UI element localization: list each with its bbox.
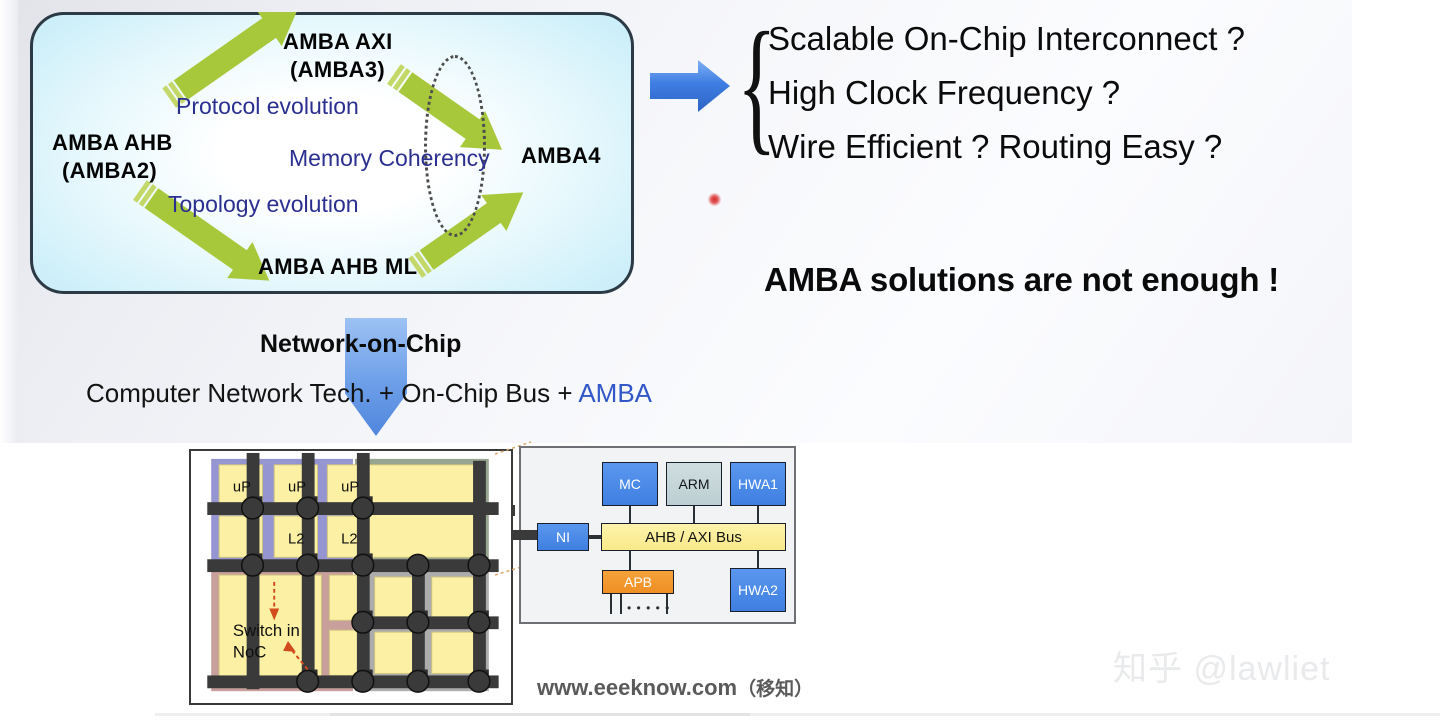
noc-formula-amba: AMBA — [578, 378, 652, 408]
block-ahb-axi-bus: AHB / AXI Bus — [601, 523, 786, 551]
watermark: 知乎 @lawliet — [1113, 641, 1330, 690]
mesh-callout-line2: NoC — [233, 643, 266, 662]
noc-title: Network-on-Chip — [260, 330, 461, 359]
apb-stub-1 — [610, 594, 612, 614]
mesh-callout-line1: Switch in — [233, 621, 300, 640]
wire-bus-hwa2 — [757, 551, 759, 569]
slide-left-gradient — [0, 0, 20, 443]
right-arrow-icon — [650, 57, 732, 115]
noc-mesh-diagram: uP uP uP L2 L2 Switch in NoC — [189, 449, 513, 705]
block-ni: NI — [537, 523, 589, 551]
conclusion-text: AMBA solutions are not enough ! — [764, 261, 1279, 299]
block-apb: APB — [602, 570, 674, 594]
footer-url-text: www.eeeknow.com — [537, 675, 737, 700]
block-hwa2: HWA2 — [730, 568, 786, 612]
laser-pointer-dot — [708, 193, 721, 206]
noc-formula-part1: Computer Network Tech. + On-Chip Bus + — [86, 378, 578, 408]
node-amba4: AMBA4 — [521, 143, 601, 169]
ahb-axi-block-diagram: MC ARM HWA1 NI AHB / AXI Bus APB HWA2 • … — [519, 446, 796, 624]
noc-formula: Computer Network Tech. + On-Chip Bus + A… — [86, 378, 652, 409]
node-amba-axi: AMBA AXI — [283, 29, 393, 55]
block-hwa1: HWA1 — [730, 462, 786, 506]
wire-external-ni — [511, 530, 537, 540]
mesh-tile-label-l2-1: L2 — [288, 532, 304, 548]
apb-ellipsis: • • • • • — [627, 601, 670, 615]
mesh-tile-label-up-1: uP — [233, 479, 251, 495]
annotation-topology-evolution: Topology evolution — [168, 191, 359, 218]
node-amba-ahb-ml: AMBA AHB ML — [258, 254, 417, 280]
node-amba-axi-version: (AMBA3) — [290, 57, 385, 83]
node-amba-ahb-version: (AMBA2) — [62, 158, 157, 184]
question-item-2: Wire Efficient ? Routing Easy ? — [768, 120, 1245, 174]
apb-stub-2 — [620, 594, 622, 614]
connector-tick — [511, 505, 515, 516]
noc-mesh-svg: uP uP uP L2 L2 Switch in NoC — [191, 451, 511, 703]
annotation-memory-coherency: Memory Coherency — [289, 145, 490, 172]
questions-list: Scalable On-Chip Interconnect ? High Clo… — [768, 12, 1245, 174]
question-item-0: Scalable On-Chip Interconnect ? — [768, 12, 1245, 66]
wire-bus-apb — [629, 551, 631, 571]
annotation-protocol-evolution: Protocol evolution — [176, 93, 359, 120]
mesh-tile-label-up-3: uP — [341, 479, 359, 495]
bottom-divider-accent — [330, 713, 750, 716]
mesh-tile-label-l2-2: L2 — [341, 532, 357, 548]
node-amba-ahb: AMBA AHB — [52, 130, 173, 156]
block-arm: ARM — [666, 462, 722, 506]
mesh-tile-label-up-2: uP — [288, 479, 306, 495]
footer-url: www.eeeknow.com（移知） — [537, 674, 813, 701]
wire-ni-bus — [589, 535, 601, 539]
block-mc: MC — [602, 462, 658, 506]
footer-url-cn: （移知） — [737, 679, 813, 700]
question-item-1: High Clock Frequency ? — [768, 66, 1245, 120]
slide-stage: AMBA AHB (AMBA2) AMBA AXI (AMBA3) AMBA A… — [0, 0, 1440, 721]
